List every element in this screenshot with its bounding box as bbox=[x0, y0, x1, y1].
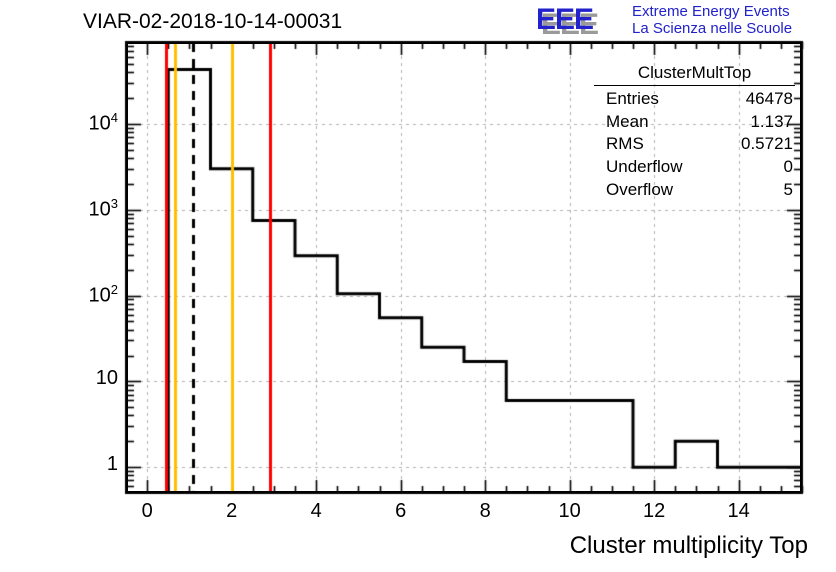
stats-row: Overflow5 bbox=[592, 179, 797, 202]
x-tick-label: 6 bbox=[381, 500, 421, 523]
y-tick-label: 102 bbox=[52, 282, 118, 308]
stats-row-value: 1.137 bbox=[750, 112, 793, 133]
x-tick-label: 2 bbox=[212, 500, 252, 523]
stats-row-value: 5 bbox=[784, 180, 793, 201]
stats-row-key: Mean bbox=[606, 112, 649, 133]
eee-logo-letters: EEE bbox=[536, 3, 593, 37]
stats-box-rows: Entries46478Mean1.137RMS0.5721Underflow0… bbox=[592, 86, 797, 202]
y-tick-label: 10 bbox=[52, 367, 118, 390]
y-tick-label: 104 bbox=[52, 110, 118, 136]
stats-row-key: RMS bbox=[606, 134, 644, 155]
stats-box-title: ClusterMultTop bbox=[594, 62, 795, 86]
stats-row: RMS0.5721 bbox=[592, 133, 797, 156]
x-tick-label: 8 bbox=[465, 500, 505, 523]
x-tick-label: 4 bbox=[296, 500, 336, 523]
y-tick-label: 103 bbox=[52, 196, 118, 222]
stats-box: ClusterMultTop Entries46478Mean1.137RMS0… bbox=[592, 62, 797, 202]
stats-row-value: 46478 bbox=[746, 89, 793, 110]
x-tick-label: 10 bbox=[550, 500, 590, 523]
x-tick-label: 14 bbox=[719, 500, 759, 523]
stats-row: Underflow0 bbox=[592, 156, 797, 179]
stats-row-value: 0.5721 bbox=[741, 134, 793, 155]
x-tick-label: 12 bbox=[634, 500, 674, 523]
x-tick-label: 0 bbox=[127, 500, 167, 523]
stats-row: Entries46478 bbox=[592, 88, 797, 111]
x-axis-title: Cluster multiplicity Top bbox=[570, 532, 836, 560]
stats-row-key: Overflow bbox=[606, 180, 673, 201]
y-tick-label: 1 bbox=[52, 453, 118, 476]
stats-row: Mean1.137 bbox=[592, 111, 797, 134]
stats-row-value: 0 bbox=[784, 157, 793, 178]
stats-row-key: Underflow bbox=[606, 157, 683, 178]
stats-row-key: Entries bbox=[606, 89, 659, 110]
